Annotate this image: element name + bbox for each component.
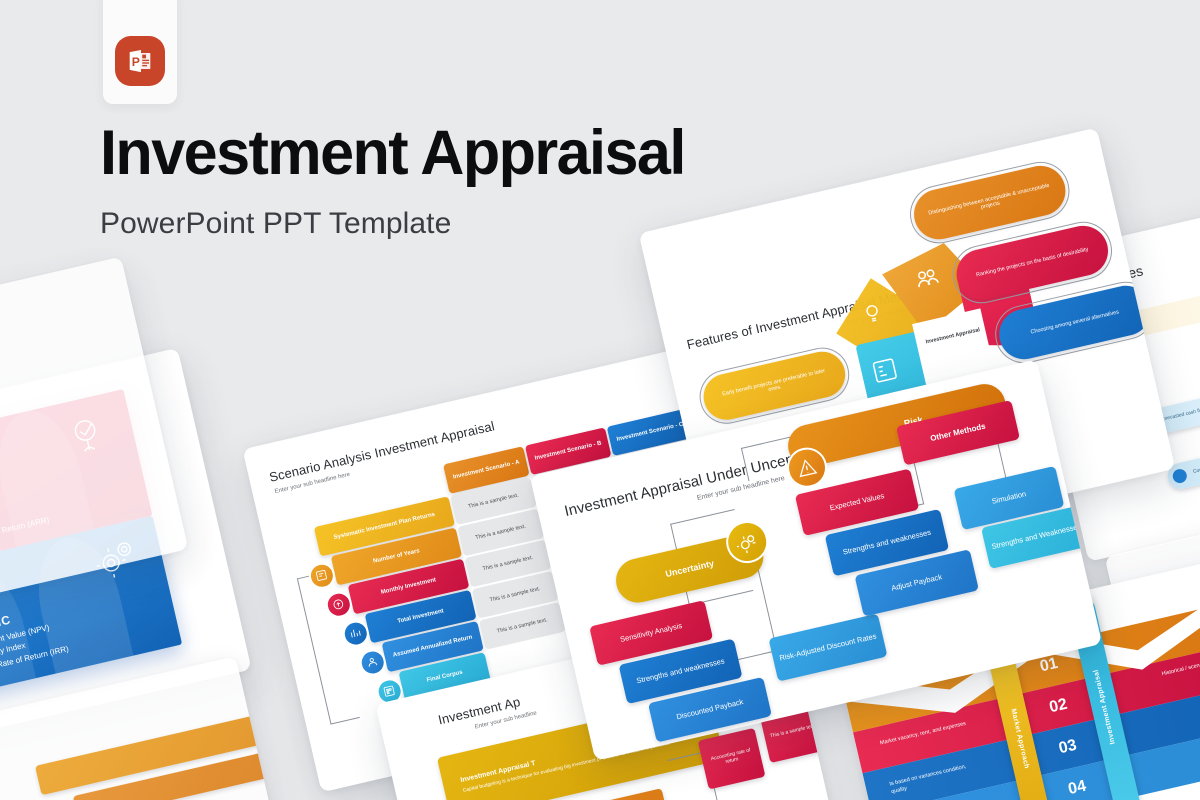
powerpoint-badge: P [103,0,177,104]
headline-block: Investment Appraisal PowerPoint PPT Temp… [100,122,703,241]
globally-item-text: Comparing present value of future cash f… [1193,438,1200,476]
svg-text:P: P [132,55,140,69]
node-risk-adjusted-discount-rates: Risk-Adjusted Discount Rates [768,614,887,682]
bullet-dot [1171,468,1188,485]
poster-canvas: ques STATIC Cash Flow Payback Period Acc… [0,0,1200,800]
powerpoint-icon: P [115,36,165,86]
page-subtitle: PowerPoint PPT Template [100,207,703,241]
page-title: Investment Appraisal [100,122,685,185]
